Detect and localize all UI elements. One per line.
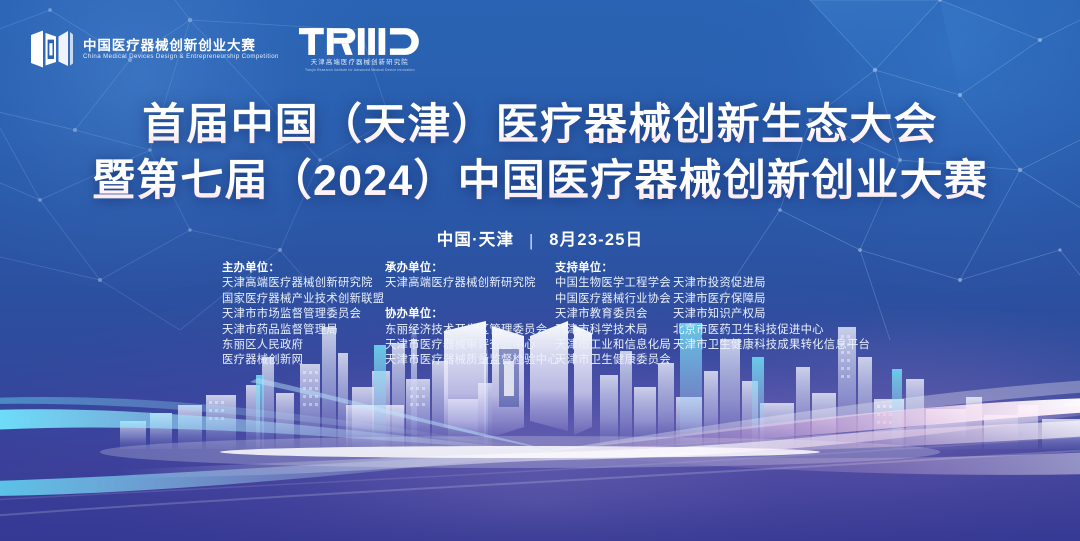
poster-title-line-2: 暨第七届（2024）中国医疗器械创新创业大赛 <box>0 154 1080 210</box>
list-item: 中国医疗器械行业协会 <box>555 292 673 307</box>
list-item: 天津市工业和信息化局 <box>555 338 673 353</box>
list-item: 东丽区人民政府 <box>222 338 385 353</box>
undertaker-label: 承办单位： <box>385 261 555 276</box>
event-meta-separator: | <box>529 232 535 251</box>
ground-gradient <box>0 421 1080 541</box>
brand-competition: 中国医疗器械创新创业大赛 China Medical Devices Desig… <box>30 29 279 69</box>
supporters-label: 支持单位： <box>555 261 673 276</box>
column-spacer <box>385 292 555 307</box>
list-item: 东丽经济技术开发区管理委员会 <box>385 323 555 338</box>
event-meta-bar: 中国·天津 | 8月23-25日 <box>0 226 1080 250</box>
list-item: 天津市投资促进局 <box>673 276 870 291</box>
organizer-column-supporters-a: 支持单位： 中国生物医学工程学会 中国医疗器械行业协会 天津市教育委员会 天津市… <box>555 261 673 369</box>
brand-competition-name-cn: 中国医疗器械创新创业大赛 <box>83 39 279 53</box>
list-item: 医疗器械创新网 <box>222 353 385 368</box>
list-item: 天津市教育委员会 <box>555 307 673 322</box>
background-glow-bottom <box>90 341 990 541</box>
list-item: 天津市卫生健康委员会 <box>555 353 673 368</box>
list-item: 天津市药品监督管理局 <box>222 323 385 338</box>
list-item: 天津市医疗器械审评查验中心 <box>385 338 555 353</box>
list-item: 天津市科学技术局 <box>555 323 673 338</box>
brand-triid-name-en: Tianjin Research Institute for Advanced … <box>305 69 415 72</box>
poster-title-line-1: 首届中国（天津）医疗器械创新生态大会 <box>0 98 1080 154</box>
header-logo-bar: 中国医疗器械创新创业大赛 China Medical Devices Desig… <box>30 26 421 73</box>
organizer-column-undertaker: 承办单位： 天津高端医疗器械创新研究院 协办单位： 东丽经济技术开发区管理委员会… <box>385 261 555 369</box>
list-item: 天津市卫生健康科技成果转化信息平台 <box>673 338 870 353</box>
triid-wordmark-icon <box>299 26 421 57</box>
organizer-block: 主办单位： 天津高端医疗器械创新研究院 国家医疗器械产业技术创新联盟 天津市市场… <box>222 261 870 369</box>
poster-title: 首届中国（天津）医疗器械创新生态大会 暨第七届（2024）中国医疗器械创新创业大… <box>0 98 1080 210</box>
event-location: 中国·天津 <box>437 231 515 249</box>
medical-door-mark-icon <box>30 29 74 69</box>
brand-competition-name-en: China Medical Devices Design & Entrepren… <box>83 54 279 60</box>
list-item: 北京市医药卫生科技促进中心 <box>673 323 870 338</box>
list-item: 天津市知识产权局 <box>673 307 870 322</box>
list-item: 天津高端医疗器械创新研究院 <box>385 276 555 291</box>
list-item: 天津市市场监督管理委员会 <box>222 307 385 322</box>
list-item: 天津高端医疗器械创新研究院 <box>222 276 385 291</box>
host-label: 主办单位： <box>222 261 385 276</box>
brand-triid-name-cn: 天津高端医疗器械创新研究院 <box>311 60 409 66</box>
organizer-column-host: 主办单位： 天津高端医疗器械创新研究院 国家医疗器械产业技术创新联盟 天津市市场… <box>222 261 385 369</box>
list-item: 国家医疗器械产业技术创新联盟 <box>222 292 385 307</box>
organizer-column-supporters-b: 天津市投资促进局 天津市医疗保障局 天津市知识产权局 北京市医药卫生科技促进中心… <box>673 261 870 353</box>
event-dates: 8月23-25日 <box>549 231 643 249</box>
event-poster: 中国医疗器械创新创业大赛 China Medical Devices Desig… <box>0 0 1080 541</box>
co-organizer-label: 协办单位： <box>385 307 555 322</box>
brand-triid: 天津高端医疗器械创新研究院 Tianjin Research Institute… <box>299 26 421 73</box>
list-item: 天津市医疗保障局 <box>673 292 870 307</box>
list-item: 中国生物医学工程学会 <box>555 276 673 291</box>
list-item: 天津市医疗器械质量监督检验中心 <box>385 353 555 368</box>
